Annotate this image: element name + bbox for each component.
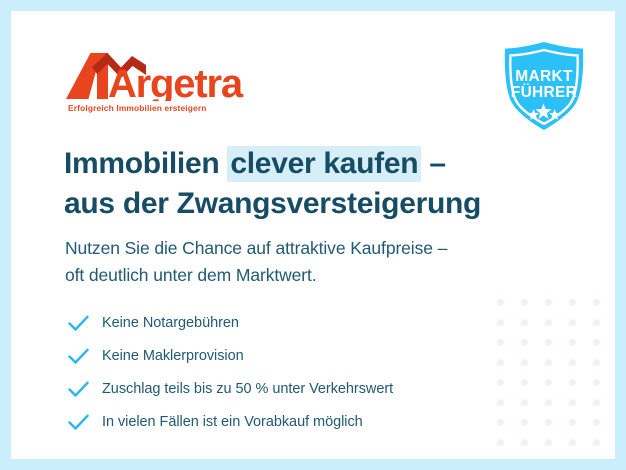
decorative-dot xyxy=(545,439,552,446)
decorative-dot xyxy=(569,439,576,446)
decorative-dot xyxy=(521,339,528,346)
list-item: In vielen Fällen ist ein Vorabkauf mögli… xyxy=(67,407,497,437)
check-icon xyxy=(67,378,89,400)
svg-text:Argetra: Argetra xyxy=(108,62,244,101)
decorative-dot xyxy=(593,379,600,386)
decorative-dot xyxy=(521,319,528,326)
decorative-dot xyxy=(545,299,552,306)
dot-grid-decoration xyxy=(497,299,601,454)
decorative-dot xyxy=(497,339,504,346)
badge-line2: FÜHRER xyxy=(511,84,577,101)
banner-canvas: Argetra Erfolgreich Immobilien ersteiger… xyxy=(11,11,615,459)
decorative-dot xyxy=(593,319,600,326)
decorative-dot xyxy=(521,359,528,366)
decorative-dot xyxy=(521,379,528,386)
check-icon xyxy=(67,312,89,334)
market-leader-badge: MARKT FÜHRER xyxy=(497,39,591,133)
headline-line-2: aus der Zwangsversteigerung xyxy=(64,184,544,224)
decorative-dot xyxy=(545,359,552,366)
subheading: Nutzen Sie die Chance auf attraktive Kau… xyxy=(65,235,555,288)
subheading-line-2: oft deutlich unter dem Marktwert. xyxy=(65,262,555,289)
decorative-dot xyxy=(545,379,552,386)
decorative-dot xyxy=(593,299,600,306)
decorative-dot xyxy=(545,339,552,346)
decorative-dot xyxy=(593,339,600,346)
decorative-dot xyxy=(569,399,576,406)
headline-text-after: – xyxy=(421,147,445,180)
benefit-label: Keine Notargebühren xyxy=(102,315,239,331)
decorative-dot xyxy=(569,299,576,306)
decorative-dot xyxy=(497,399,504,406)
decorative-dot xyxy=(497,359,504,366)
decorative-dot xyxy=(521,439,528,446)
decorative-dot xyxy=(545,319,552,326)
decorative-dot xyxy=(593,399,600,406)
headline-highlight: clever kaufen xyxy=(227,146,421,182)
headline-line-1: Immobilien clever kaufen – xyxy=(64,144,544,184)
benefits-list: Keine Notargebühren Keine Maklerprovisio… xyxy=(67,308,497,440)
headline: Immobilien clever kaufen – aus der Zwang… xyxy=(64,144,544,223)
check-icon xyxy=(67,411,89,433)
decorative-dot xyxy=(545,419,552,426)
decorative-dot xyxy=(497,299,504,306)
headline-text-before: Immobilien xyxy=(64,147,227,180)
decorative-dot xyxy=(569,359,576,366)
list-item: Zuschlag teils bis zu 50 % unter Verkehr… xyxy=(67,374,497,404)
promo-banner: Argetra Erfolgreich Immobilien ersteiger… xyxy=(0,0,626,470)
decorative-dot xyxy=(497,379,504,386)
list-item: Keine Notargebühren xyxy=(67,308,497,338)
decorative-dot xyxy=(521,299,528,306)
decorative-dot xyxy=(569,419,576,426)
decorative-dot xyxy=(497,419,504,426)
decorative-dot xyxy=(593,419,600,426)
decorative-dot xyxy=(569,319,576,326)
decorative-dot xyxy=(569,379,576,386)
benefit-label: Zuschlag teils bis zu 50 % unter Verkehr… xyxy=(102,381,393,397)
decorative-dot xyxy=(569,339,576,346)
benefit-label: In vielen Fällen ist ein Vorabkauf mögli… xyxy=(102,414,363,430)
benefit-label: Keine Maklerprovision xyxy=(102,348,244,364)
shield-badge-icon: MARKT FÜHRER xyxy=(497,39,591,133)
decorative-dot xyxy=(521,419,528,426)
argetra-logo-icon: Argetra xyxy=(66,51,258,101)
argetra-logo[interactable]: Argetra Erfolgreich Immobilien ersteiger… xyxy=(66,51,266,119)
badge-line1: MARKT xyxy=(515,68,573,85)
decorative-dot xyxy=(497,319,504,326)
decorative-dot xyxy=(593,359,600,366)
decorative-dot xyxy=(545,399,552,406)
argetra-logo-tagline: Erfolgreich Immobilien ersteigern xyxy=(68,103,207,113)
decorative-dot xyxy=(497,439,504,446)
decorative-dot xyxy=(593,439,600,446)
check-icon xyxy=(67,345,89,367)
subheading-line-1: Nutzen Sie die Chance auf attraktive Kau… xyxy=(65,235,555,262)
list-item: Keine Maklerprovision xyxy=(67,341,497,371)
decorative-dot xyxy=(521,399,528,406)
